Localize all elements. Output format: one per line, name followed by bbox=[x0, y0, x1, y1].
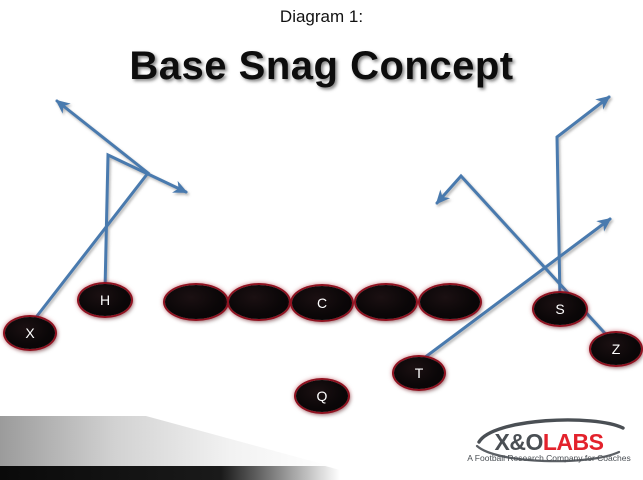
player-label-z: Z bbox=[612, 342, 621, 356]
player-marker-s[interactable]: S bbox=[534, 293, 586, 325]
player-label-t: T bbox=[415, 366, 424, 380]
player-marker-t[interactable]: T bbox=[394, 357, 444, 389]
player-label-s: S bbox=[555, 302, 564, 316]
player-label-c: C bbox=[317, 296, 327, 310]
player-label-q: Q bbox=[317, 389, 328, 403]
player-marker-left-guard[interactable] bbox=[229, 285, 289, 319]
logo-text-xo: X&O bbox=[495, 429, 543, 455]
player-marker-q[interactable]: Q bbox=[296, 380, 348, 412]
route-s-corner bbox=[557, 97, 609, 300]
player-marker-right-tackle[interactable] bbox=[420, 285, 480, 319]
player-marker-right-guard[interactable] bbox=[356, 285, 416, 319]
logo-tagline: A Football Research Company for Coaches bbox=[463, 453, 635, 463]
player-marker-left-tackle[interactable] bbox=[165, 285, 227, 319]
xo-labs-logo[interactable]: X&OLABS A Football Research Company for … bbox=[463, 412, 635, 470]
player-label-x: X bbox=[25, 326, 34, 340]
deco-band-light bbox=[0, 416, 330, 466]
presentation-slide: Diagram 1: Base Snag Concept bbox=[0, 0, 643, 480]
player-marker-h[interactable]: H bbox=[79, 284, 131, 316]
decorative-band bbox=[0, 408, 340, 480]
player-label-h: H bbox=[100, 293, 110, 307]
player-marker-center[interactable]: C bbox=[292, 286, 352, 320]
logo-wordmark: X&OLABS bbox=[463, 429, 635, 456]
logo-text-labs: LABS bbox=[543, 429, 604, 455]
player-marker-z[interactable]: Z bbox=[591, 333, 641, 365]
player-marker-x[interactable]: X bbox=[5, 317, 55, 349]
